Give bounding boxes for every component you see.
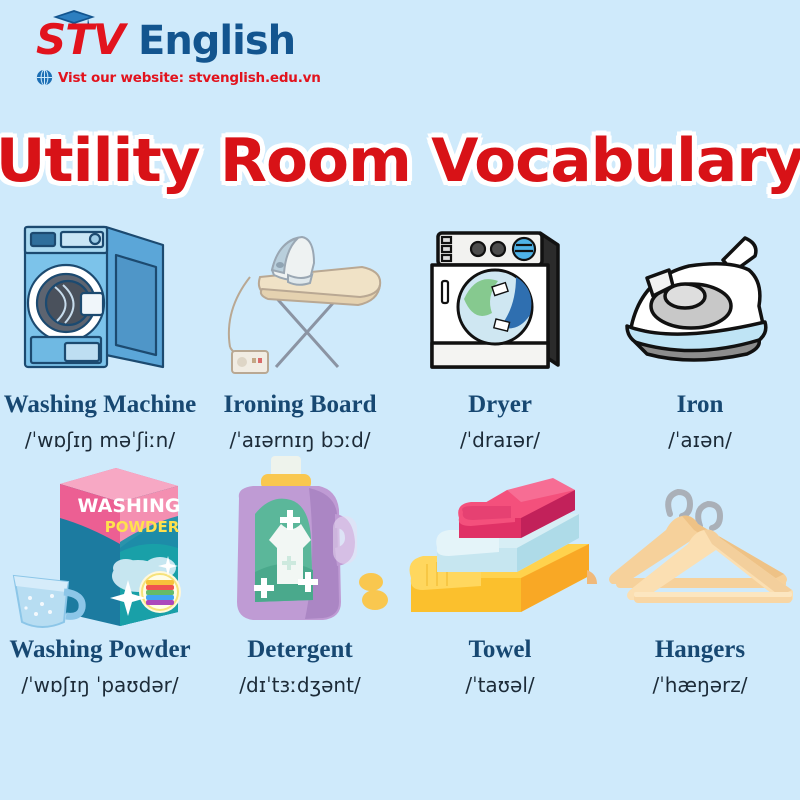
vocab-ipa: /ˈhæŋərz/ — [653, 673, 748, 697]
vocab-card-dryer: Dryer /ˈdraɪər/ — [400, 212, 600, 452]
vocabulary-row: WASHING POWDER Washing Powder /ˈwɒʃɪŋ ˈp… — [0, 452, 800, 697]
globe-icon — [36, 69, 53, 86]
powder-box-line1: WASHING — [77, 495, 180, 517]
brand-wordmark: STV English — [30, 18, 360, 66]
poster-canvas: STV English Vist our website: stvenglish… — [0, 0, 800, 800]
iron-illustration — [600, 212, 800, 387]
vocab-ipa: /ˈaɪərnɪŋ bɔːd/ — [229, 428, 370, 452]
brand-logo: STV English Vist our website: stvenglish… — [30, 18, 360, 88]
dryer-illustration — [400, 212, 600, 387]
ironing-board-illustration — [200, 212, 400, 387]
vocabulary-grid: Washing Machine /ˈwɒʃɪŋ məˈʃiːn/ — [0, 212, 800, 697]
vocab-ipa: /ˈwɒʃɪŋ ˈpaʊdər/ — [21, 673, 178, 697]
towel-illustration — [400, 452, 600, 632]
vocab-term: Washing Machine — [4, 391, 196, 419]
vocab-ipa: /ˈwɒʃɪŋ məˈʃiːn/ — [25, 428, 175, 452]
vocab-ipa: /dɪˈtɜːdʒənt/ — [239, 673, 360, 697]
vocab-card-washing-powder: WASHING POWDER Washing Powder /ˈwɒʃɪŋ ˈp… — [0, 452, 200, 697]
detergent-illustration — [200, 452, 400, 632]
vocab-term: Dryer — [468, 391, 532, 419]
vocabulary-row: Washing Machine /ˈwɒʃɪŋ məˈʃiːn/ — [0, 212, 800, 452]
washing-machine-illustration — [0, 212, 200, 387]
vocab-card-hangers: Hangers /ˈhæŋərz/ — [600, 452, 800, 697]
vocab-term: Detergent — [247, 636, 353, 664]
vocab-term: Washing Powder — [9, 636, 190, 664]
brand-website: Vist our website: stvenglish.edu.vn — [58, 70, 321, 86]
vocab-ipa: /ˈdraɪər/ — [460, 428, 540, 452]
vocab-card-towel: Towel /ˈtaʊəl/ — [400, 452, 600, 697]
vocab-card-detergent: Detergent /dɪˈtɜːdʒənt/ — [200, 452, 400, 697]
brand-name-english: English — [138, 19, 295, 63]
vocab-ipa: /ˈtaʊəl/ — [465, 673, 534, 697]
vocab-card-ironing-board: Ironing Board /ˈaɪərnɪŋ bɔːd/ — [200, 212, 400, 452]
hangers-illustration — [600, 452, 800, 632]
vocab-term: Ironing Board — [223, 391, 376, 419]
vocab-term: Iron — [677, 391, 724, 419]
powder-box-line2: POWDER — [104, 518, 179, 536]
vocab-term: Towel — [469, 636, 532, 664]
vocab-card-iron: Iron /ˈaɪən/ — [600, 212, 800, 452]
washing-powder-illustration: WASHING POWDER — [0, 452, 200, 632]
vocab-ipa: /ˈaɪən/ — [668, 428, 732, 452]
brand-name-stv: STV — [36, 18, 124, 62]
vocab-card-washing-machine: Washing Machine /ˈwɒʃɪŋ məˈʃiːn/ — [0, 212, 200, 452]
page-title: Utility Room Vocabulary — [0, 126, 800, 196]
vocab-term: Hangers — [655, 636, 745, 664]
